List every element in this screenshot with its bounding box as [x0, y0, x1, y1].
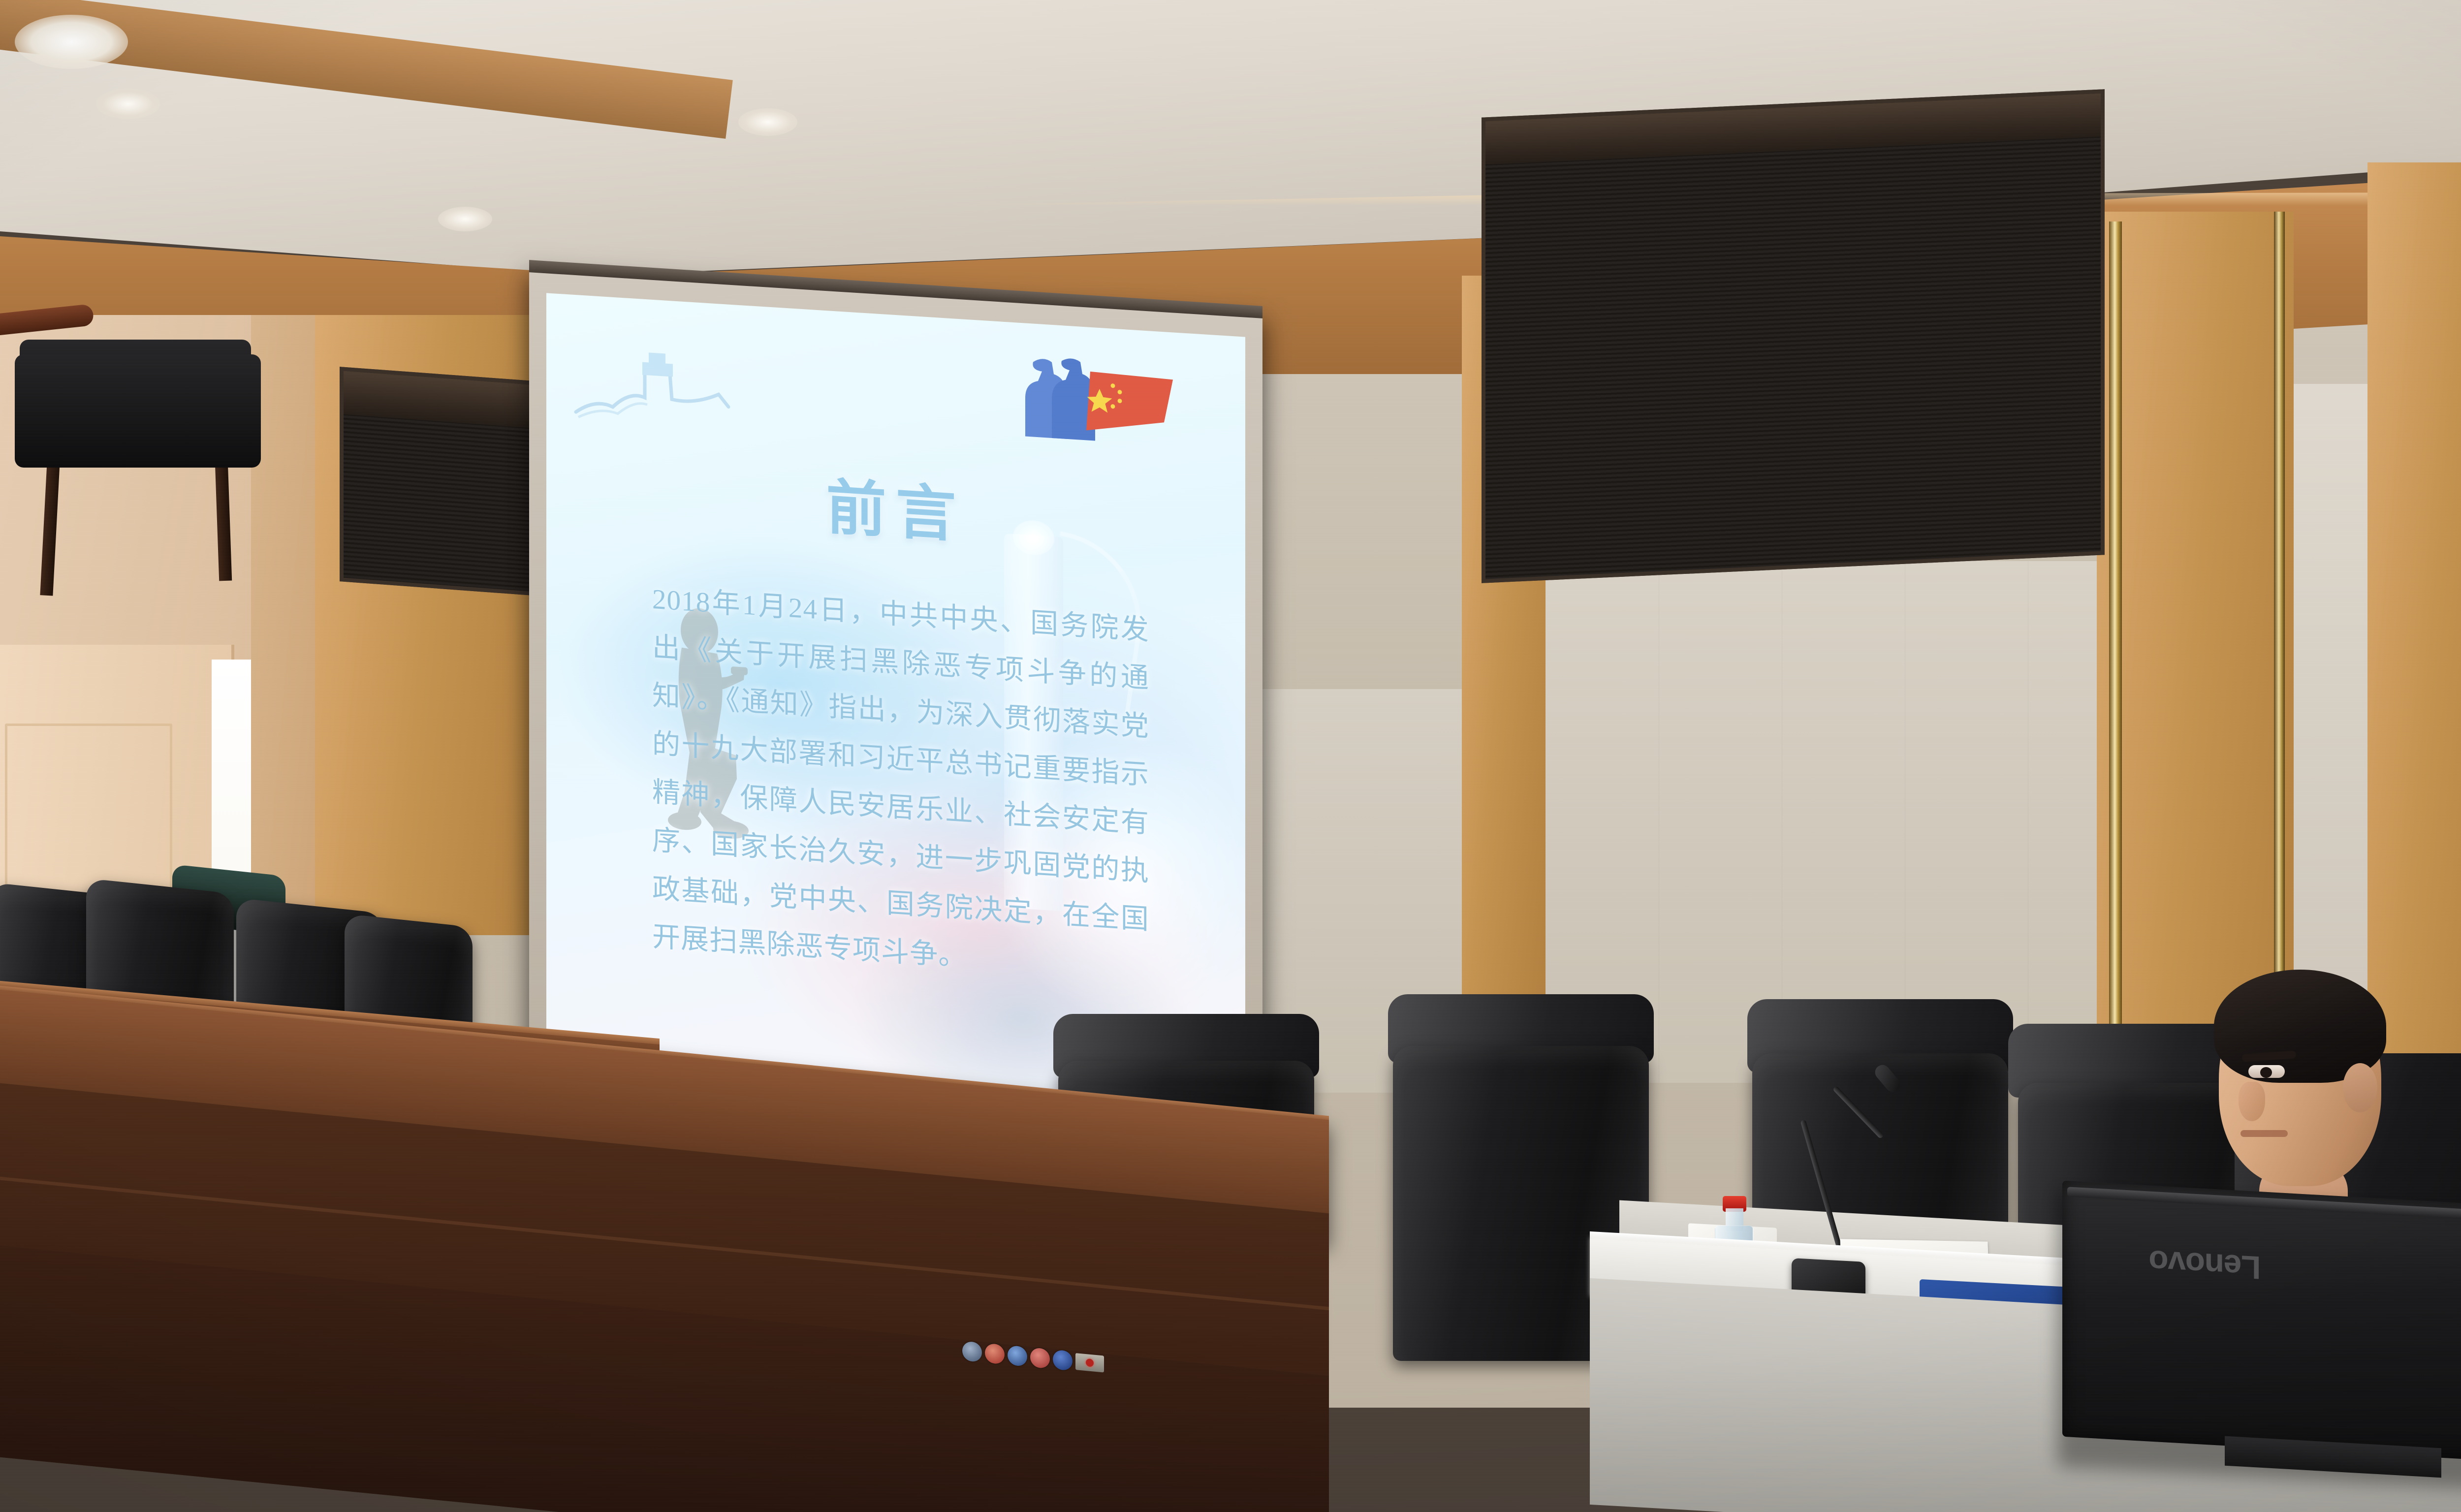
ceiling-downlight [96, 89, 160, 119]
wall-pillar-far-right [2367, 162, 2461, 1078]
great-wall-sketch-icon [571, 338, 733, 451]
slide-title: 前言 [546, 441, 1245, 571]
computer-monitor[interactable] [2062, 1181, 2461, 1468]
ceiling-downlight [15, 15, 128, 69]
ceiling-downlight [438, 207, 492, 231]
window-blind-center[interactable] [1482, 89, 2105, 583]
window-blind-left[interactable] [340, 367, 539, 596]
officer-mouth [2240, 1130, 2288, 1137]
officer-nose [2239, 1082, 2265, 1121]
sticker-3[interactable] [1008, 1345, 1027, 1367]
police-flag-emblem-icon [1016, 352, 1174, 450]
ceiling-downlight [738, 108, 797, 136]
officer-pupil [2260, 1067, 2272, 1078]
blind-slats [1485, 94, 2101, 579]
power-led-icon [1086, 1358, 1094, 1367]
sticker-4[interactable] [1030, 1347, 1050, 1369]
screenshot-root: 前言 2018年1月24日，中共中央、国务院发出《关于开展扫黑除恶专项斗争的通知… [0, 0, 2461, 1512]
sticker-5[interactable] [1053, 1350, 1073, 1371]
slide-body-text: 2018年1月24日，中共中央、国务院发出《关于开展扫黑除恶专项斗争的通知》。《… [652, 575, 1149, 993]
chair-seat [15, 354, 261, 468]
podium-control-panel[interactable] [1075, 1353, 1104, 1372]
sticker-1[interactable] [962, 1341, 982, 1362]
officer-ear [2343, 1063, 2377, 1112]
presentation-slide: 前言 2018年1月24日，中共中央、国务院发出《关于开展扫黑除恶专项斗争的通知… [546, 293, 1245, 1124]
sticker-2[interactable] [985, 1343, 1005, 1365]
